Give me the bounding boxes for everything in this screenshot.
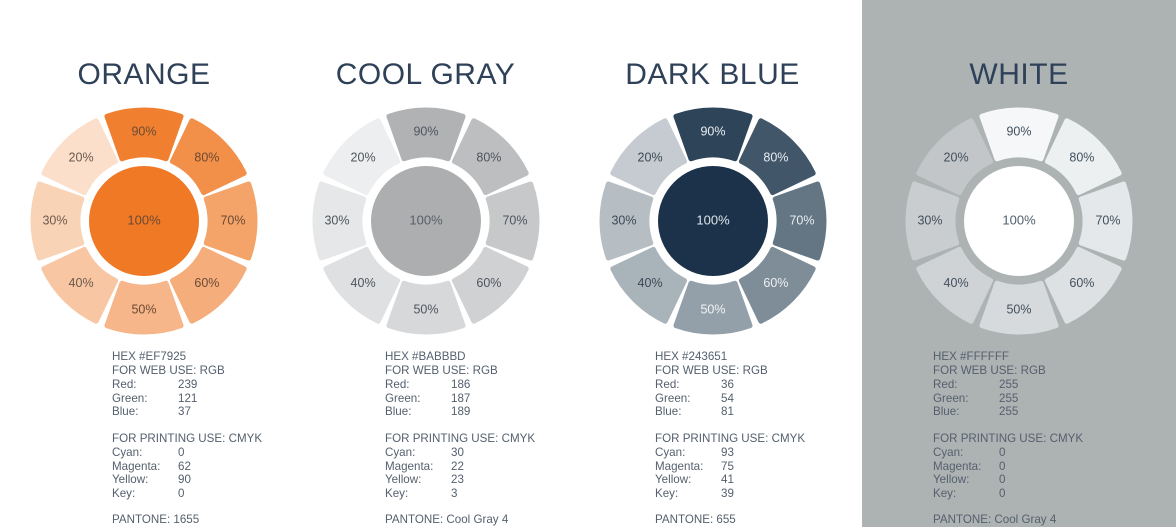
tint-segment-white-70: 70% [1081, 184, 1130, 258]
spacer [933, 500, 1083, 513]
spec-row-cyan: Cyan:30 [385, 446, 535, 460]
spec-value: 37 [178, 405, 262, 419]
column-title-orange: ORANGE [0, 58, 288, 92]
spec-row-key: Key:0 [933, 487, 1083, 501]
spec-row-yellow: Yellow:41 [655, 473, 805, 487]
spec-value: 36 [721, 378, 805, 392]
spec-value: 41 [721, 473, 805, 487]
tint-segment-white-30: 30% [908, 184, 957, 258]
print-use-heading: FOR PRINTING USE: CMYK [385, 432, 535, 446]
tint-segment-dark-blue-20: 20% [612, 121, 684, 193]
tint-segment-label: 30% [42, 213, 67, 227]
tint-segment-label: 20% [944, 150, 969, 164]
hex-value: HEX #EF7925 [112, 350, 262, 364]
tint-segment-white-40: 40% [919, 249, 991, 321]
tint-segment-cool-gray-70: 70% [488, 184, 537, 258]
spec-value: 0 [999, 460, 1083, 474]
tint-segment-label: 30% [917, 213, 942, 227]
spacer [655, 500, 805, 513]
spec-key: Red: [385, 378, 451, 392]
tint-segment-label: 70% [789, 213, 814, 227]
tint-segment-label: 40% [637, 276, 662, 290]
spec-key: Yellow: [112, 473, 178, 487]
web-use-heading: FOR WEB USE: RGB [933, 364, 1083, 378]
spec-key: Green: [933, 392, 999, 406]
spec-row-blue: Blue:255 [933, 405, 1083, 419]
tint-hub-orange: 100% [89, 166, 199, 276]
tint-segment-label: 70% [220, 213, 245, 227]
spec-key: Key: [655, 487, 721, 501]
spec-value: 189 [451, 405, 535, 419]
spec-value: 255 [999, 378, 1083, 392]
tint-segment-label: 80% [476, 150, 501, 164]
tint-segment-white-60: 60% [1047, 249, 1119, 321]
spec-value: 93 [721, 446, 805, 460]
spec-key: Key: [385, 487, 451, 501]
tint-segment-orange-70: 70% [206, 184, 255, 258]
tint-segment-orange-40: 40% [44, 249, 116, 321]
tint-segment-cool-gray-40: 40% [325, 249, 397, 321]
tint-segment-label: 80% [1069, 150, 1094, 164]
color-column-orange: ORANGE90%80%70%60%50%40%30%20%100%HEX #E… [0, 0, 288, 527]
spec-key: Blue: [933, 405, 999, 419]
spec-row-cyan: Cyan:0 [933, 446, 1083, 460]
tint-hub-white: 100% [964, 166, 1074, 276]
hex-value: HEX #BABBBD [385, 350, 535, 364]
spacer [655, 419, 805, 432]
tint-hub-cool-gray: 100% [371, 166, 481, 276]
tint-segment-orange-30: 30% [33, 184, 82, 258]
spec-row-green: Green:187 [385, 392, 535, 406]
tint-segment-label: 20% [350, 150, 375, 164]
tint-segment-orange-20: 20% [44, 121, 116, 193]
tint-segment-label: 90% [131, 124, 156, 138]
pantone-value: PANTONE: 1655 [112, 513, 262, 527]
color-spec-block-dark-blue: HEX #243651FOR WEB USE: RGBRed:36Green:5… [655, 350, 805, 527]
tint-segment-white-20: 20% [919, 121, 991, 193]
spec-value: 3 [451, 487, 535, 501]
spec-row-blue: Blue:37 [112, 405, 262, 419]
tint-segment-label: 60% [763, 276, 788, 290]
spec-key: Blue: [112, 405, 178, 419]
spec-key: Red: [933, 378, 999, 392]
spec-key: Red: [112, 378, 178, 392]
spec-value: 54 [721, 392, 805, 406]
spec-value: 255 [999, 405, 1083, 419]
spacer [112, 500, 262, 513]
spacer [112, 419, 262, 432]
tint-hub-label: 100% [409, 212, 443, 227]
spec-row-blue: Blue:189 [385, 405, 535, 419]
tint-segment-orange-90: 90% [107, 110, 181, 159]
tint-hub-label: 100% [696, 212, 730, 227]
spec-key: Green: [655, 392, 721, 406]
spec-key: Cyan: [655, 446, 721, 460]
spec-value: 75 [721, 460, 805, 474]
tint-hub-label: 100% [127, 212, 161, 227]
pantone-value: PANTONE: Cool Gray 4 [385, 513, 535, 527]
spec-row-magenta: Magenta:75 [655, 460, 805, 474]
spec-value: 0 [178, 446, 262, 460]
spec-value: 187 [451, 392, 535, 406]
column-title-dark-blue: DARK BLUE [563, 58, 862, 92]
spec-row-magenta: Magenta:22 [385, 460, 535, 474]
spec-value: 121 [178, 392, 262, 406]
web-use-heading: FOR WEB USE: RGB [112, 364, 262, 378]
spec-key: Magenta: [112, 460, 178, 474]
spec-key: Green: [112, 392, 178, 406]
spec-value: 23 [451, 473, 535, 487]
spec-key: Magenta: [385, 460, 451, 474]
spec-row-green: Green:54 [655, 392, 805, 406]
tint-segment-cool-gray-90: 90% [388, 110, 462, 159]
tint-segment-dark-blue-90: 90% [675, 110, 749, 159]
spec-key: Green: [385, 392, 451, 406]
tint-hub-label: 100% [1002, 212, 1036, 227]
spec-value: 0 [999, 487, 1083, 501]
spec-value: 62 [178, 460, 262, 474]
tint-wheel-dark-blue: 90%80%70%60%50%40%30%20%100% [602, 110, 824, 332]
spec-key: Red: [655, 378, 721, 392]
spec-row-red: Red:239 [112, 378, 262, 392]
spec-row-blue: Blue:81 [655, 405, 805, 419]
spec-key: Magenta: [933, 460, 999, 474]
palette-board: ORANGE90%80%70%60%50%40%30%20%100%HEX #E… [0, 0, 1176, 527]
spec-row-key: Key:39 [655, 487, 805, 501]
spec-key: Yellow: [933, 473, 999, 487]
spec-row-yellow: Yellow:23 [385, 473, 535, 487]
spec-value: 22 [451, 460, 535, 474]
tint-segment-dark-blue-50: 50% [675, 283, 749, 332]
tint-segment-white-90: 90% [982, 110, 1056, 159]
tint-wheel-cool-gray: 90%80%70%60%50%40%30%20%100% [315, 110, 537, 332]
spec-row-key: Key:0 [112, 487, 262, 501]
hex-value: HEX #243651 [655, 350, 805, 364]
tint-segment-label: 80% [194, 150, 219, 164]
spec-key: Cyan: [933, 446, 999, 460]
color-column-dark-blue: DARK BLUE90%80%70%60%50%40%30%20%100%HEX… [563, 0, 862, 527]
spec-row-red: Red:186 [385, 378, 535, 392]
tint-segment-white-50: 50% [982, 283, 1056, 332]
tint-segment-dark-blue-40: 40% [612, 249, 684, 321]
color-spec-block-cool-gray: HEX #BABBBDFOR WEB USE: RGBRed:186Green:… [385, 350, 535, 527]
web-use-heading: FOR WEB USE: RGB [655, 364, 805, 378]
tint-segment-label: 50% [1006, 302, 1031, 316]
spec-key: Yellow: [655, 473, 721, 487]
spec-key: Magenta: [655, 460, 721, 474]
spec-value: 90 [178, 473, 262, 487]
tint-wheel-white: 90%80%70%60%50%40%30%20%100% [908, 110, 1130, 332]
spec-value: 0 [999, 446, 1083, 460]
spec-value: 30 [451, 446, 535, 460]
tint-segment-cool-gray-50: 50% [388, 283, 462, 332]
tint-hub-dark-blue: 100% [658, 166, 768, 276]
tint-segment-label: 60% [194, 276, 219, 290]
spec-row-green: Green:255 [933, 392, 1083, 406]
tint-segment-dark-blue-60: 60% [741, 249, 813, 321]
tint-segment-label: 60% [1069, 276, 1094, 290]
tint-segment-label: 40% [944, 276, 969, 290]
tint-segment-label: 90% [1006, 124, 1031, 138]
spec-key: Blue: [655, 405, 721, 419]
tint-segment-cool-gray-60: 60% [454, 249, 526, 321]
print-use-heading: FOR PRINTING USE: CMYK [112, 432, 262, 446]
spec-key: Key: [933, 487, 999, 501]
tint-wheel-orange: 90%80%70%60%50%40%30%20%100% [33, 110, 255, 332]
tint-segment-cool-gray-30: 30% [315, 184, 364, 258]
tint-segment-label: 90% [700, 124, 725, 138]
tint-segment-label: 40% [350, 276, 375, 290]
spec-value: 186 [451, 378, 535, 392]
tint-segment-label: 90% [413, 124, 438, 138]
tint-segment-dark-blue-70: 70% [775, 184, 824, 258]
tint-segment-label: 80% [763, 150, 788, 164]
tint-segment-label: 50% [700, 302, 725, 316]
color-column-white: WHITE90%80%70%60%50%40%30%20%100%HEX #FF… [862, 0, 1176, 527]
tint-segment-label: 60% [476, 276, 501, 290]
tint-segment-label: 40% [69, 276, 94, 290]
spec-value: 255 [999, 392, 1083, 406]
tint-segment-orange-50: 50% [107, 283, 181, 332]
tint-segment-label: 30% [324, 213, 349, 227]
spec-row-red: Red:255 [933, 378, 1083, 392]
tint-segment-label: 50% [413, 302, 438, 316]
column-title-cool-gray: COOL GRAY [288, 58, 563, 92]
tint-segment-label: 70% [502, 213, 527, 227]
color-column-cool-gray: COOL GRAY90%80%70%60%50%40%30%20%100%HEX… [288, 0, 563, 527]
tint-segment-white-80: 80% [1047, 121, 1119, 193]
spec-row-yellow: Yellow:90 [112, 473, 262, 487]
tint-segment-cool-gray-20: 20% [325, 121, 397, 193]
tint-segment-label: 30% [611, 213, 636, 227]
tint-segment-cool-gray-80: 80% [454, 121, 526, 193]
spec-row-magenta: Magenta:0 [933, 460, 1083, 474]
tint-segment-label: 20% [637, 150, 662, 164]
tint-segment-label: 70% [1095, 213, 1120, 227]
spec-value: 0 [999, 473, 1083, 487]
tint-segment-dark-blue-80: 80% [741, 121, 813, 193]
spec-value: 81 [721, 405, 805, 419]
spec-key: Cyan: [385, 446, 451, 460]
pantone-value: PANTONE: 655 [655, 513, 805, 527]
spec-row-cyan: Cyan:93 [655, 446, 805, 460]
tint-segment-orange-60: 60% [172, 249, 244, 321]
pantone-value: PANTONE: Cool Gray 4 [933, 513, 1083, 527]
spacer [933, 419, 1083, 432]
spec-key: Yellow: [385, 473, 451, 487]
hex-value: HEX #FFFFFF [933, 350, 1083, 364]
web-use-heading: FOR WEB USE: RGB [385, 364, 535, 378]
print-use-heading: FOR PRINTING USE: CMYK [655, 432, 805, 446]
tint-segment-orange-80: 80% [172, 121, 244, 193]
spec-key: Cyan: [112, 446, 178, 460]
color-spec-block-white: HEX #FFFFFFFOR WEB USE: RGBRed:255Green:… [933, 350, 1083, 527]
tint-segment-label: 20% [69, 150, 94, 164]
spec-value: 0 [178, 487, 262, 501]
spacer [385, 500, 535, 513]
spec-row-magenta: Magenta:62 [112, 460, 262, 474]
column-title-white: WHITE [862, 58, 1176, 92]
spec-row-green: Green:121 [112, 392, 262, 406]
spec-key: Blue: [385, 405, 451, 419]
color-spec-block-orange: HEX #EF7925FOR WEB USE: RGBRed:239Green:… [112, 350, 262, 527]
tint-segment-label: 50% [131, 302, 156, 316]
print-use-heading: FOR PRINTING USE: CMYK [933, 432, 1083, 446]
spec-value: 39 [721, 487, 805, 501]
spec-row-red: Red:36 [655, 378, 805, 392]
spacer [385, 419, 535, 432]
spec-value: 239 [178, 378, 262, 392]
spec-row-yellow: Yellow:0 [933, 473, 1083, 487]
tint-segment-dark-blue-30: 30% [602, 184, 651, 258]
spec-row-cyan: Cyan:0 [112, 446, 262, 460]
spec-key: Key: [112, 487, 178, 501]
spec-row-key: Key:3 [385, 487, 535, 501]
